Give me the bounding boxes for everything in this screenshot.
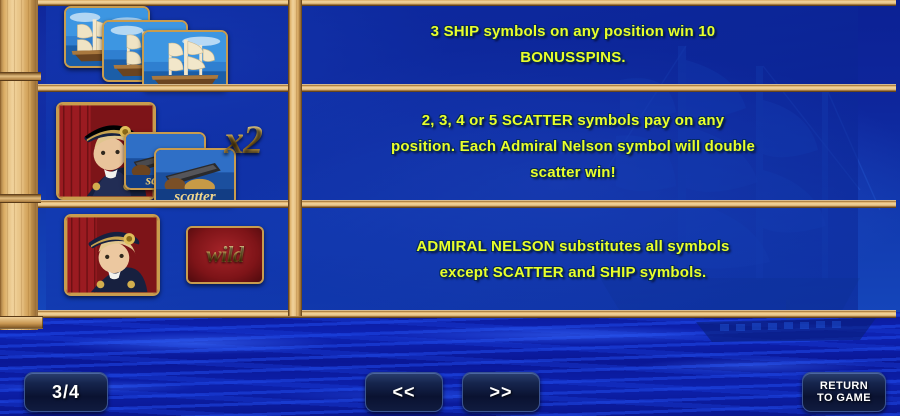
description-wild: ADMIRAL NELSON substitutes all symbols e…	[288, 208, 858, 310]
multiplier-label: x2	[224, 116, 262, 163]
paytable-screen: 3 SHIP symbols on any position win 10 BO…	[0, 0, 900, 416]
next-page-button[interactable]: >>	[462, 372, 540, 412]
symbol-group-scatter: scatter scatter x2	[46, 92, 288, 200]
frame-post-right	[0, 0, 38, 330]
symbol-group-ships	[46, 4, 288, 84]
description-line: position. Each Admiral Nelson symbol wil…	[391, 138, 755, 155]
description-scatter: 2, 3, 4 or 5 SCATTER symbols pay on any …	[288, 92, 858, 200]
page-indicator-button[interactable]: 3/4	[24, 372, 108, 412]
frame-divider-bottom	[38, 310, 896, 318]
frame-post-middle	[288, 0, 302, 316]
wild-symbol-label: wild	[206, 242, 244, 268]
description-ship-bonus: 3 SHIP symbols on any position win 10 BO…	[288, 4, 858, 84]
frame-divider-top	[38, 0, 896, 6]
paytable-row-scatter: scatter scatter x2 2, 3, 4 or 5 SCATTER …	[46, 92, 858, 200]
description-line: 3 SHIP symbols on any position win 10	[431, 23, 716, 40]
control-bar: 3/4 << >> RETURN TO GAME	[0, 368, 900, 416]
description-line: BONUSSPINS.	[520, 49, 626, 66]
paytable-row-ship-bonus: 3 SHIP symbols on any position win 10 BO…	[46, 4, 858, 84]
previous-page-button[interactable]: <<	[365, 372, 443, 412]
wild-symbol-card: wild	[186, 226, 264, 284]
paytable-row-wild: wild ADMIRAL NELSON substitutes all symb…	[46, 208, 858, 310]
description-line: 2, 3, 4 or 5 SCATTER symbols pay on any	[422, 112, 725, 129]
description-line: except SCATTER and SHIP symbols.	[440, 264, 707, 281]
ship-symbol-card	[142, 30, 228, 92]
return-to-game-button[interactable]: RETURN TO GAME	[802, 372, 886, 412]
return-to-game-line1: RETURN	[820, 380, 868, 392]
frame-divider-1	[38, 84, 896, 92]
symbol-group-wild: wild	[46, 208, 288, 310]
frame-divider-2	[38, 200, 896, 208]
description-line: scatter win!	[530, 164, 616, 181]
return-to-game-line2: TO GAME	[817, 392, 871, 404]
description-line: ADMIRAL NELSON substitutes all symbols	[416, 238, 729, 255]
admiral-nelson-symbol-card	[64, 214, 160, 296]
